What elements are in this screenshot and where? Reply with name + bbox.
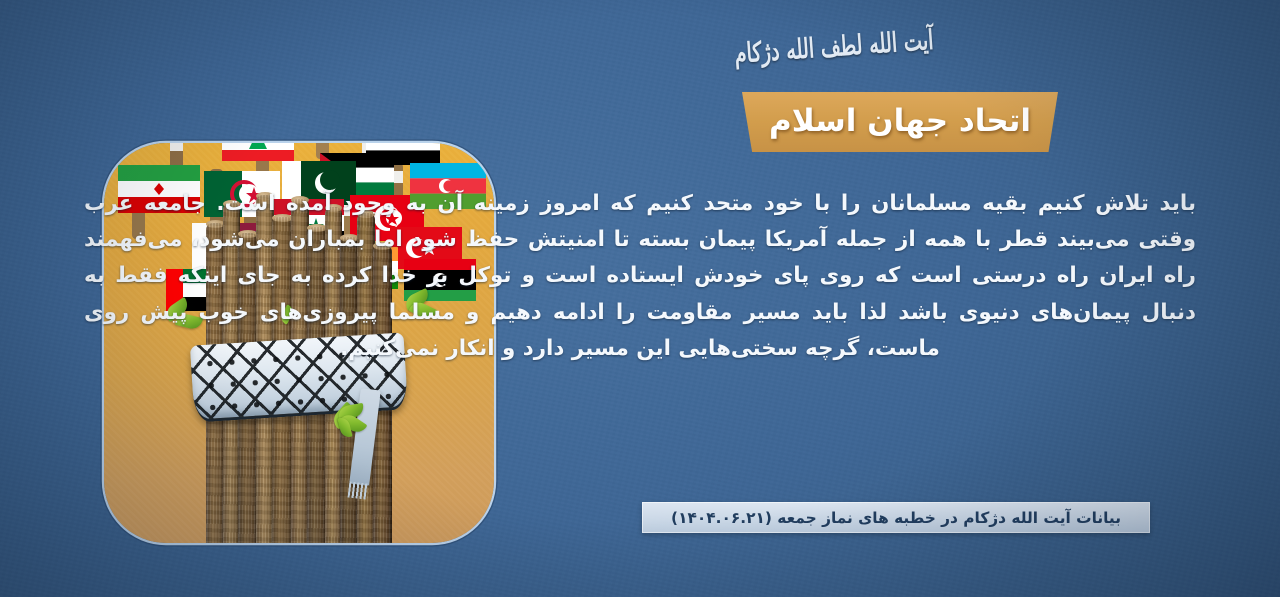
flag-lebanon: [222, 143, 294, 161]
poster-root: الله اكبر: [0, 0, 1280, 597]
title-banner: اتحاد جهان اسلام: [742, 92, 1058, 152]
caption-text: بیانات آیت الله دژکام در خطبه های نماز ج…: [671, 509, 1121, 527]
caption-bar: بیانات آیت الله دژکام در خطبه های نماز ج…: [642, 502, 1150, 533]
quote-paragraph: باید تلاش کنیم بقیه مسلمانان را با خود م…: [84, 186, 1196, 367]
calligraphic-signature: آیت الله لطف الله دژکام: [786, 26, 935, 64]
page-title: اتحاد جهان اسلام: [769, 103, 1031, 139]
